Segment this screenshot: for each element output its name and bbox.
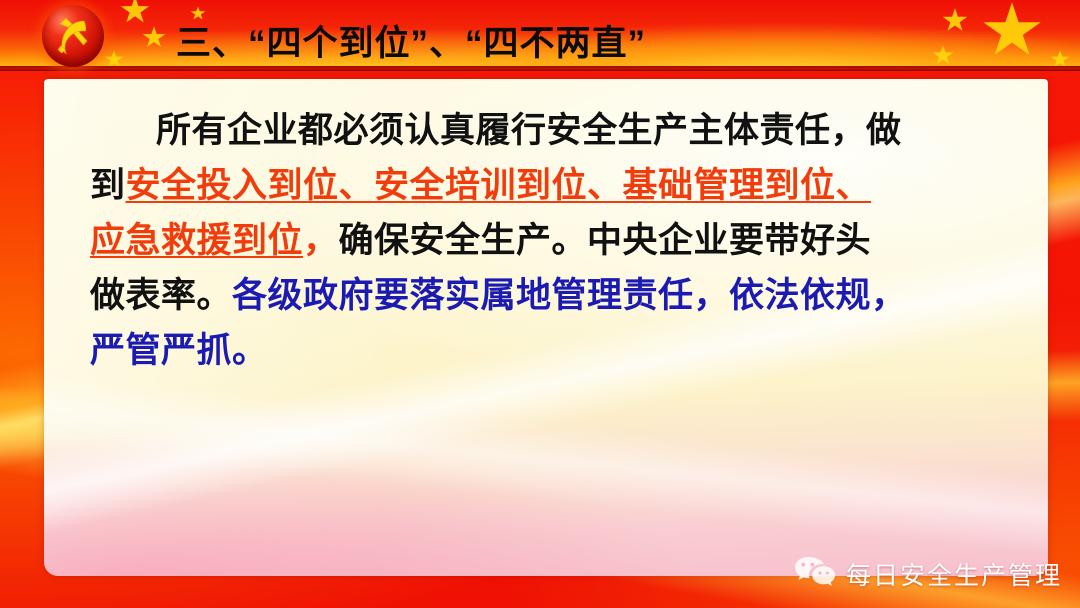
body-span-red: ， — [303, 221, 339, 260]
body-span-black: 所有企业都必须认真履行安全生产主体责任，做 — [156, 111, 902, 150]
five-pointed-star-icon — [982, 2, 1042, 60]
body-span-red-underline: 安全投入到位、安全培训到位、基础管理到位、 — [126, 166, 872, 205]
body-span-blue: 各级政府要落实属地管理责任，依法依规， — [232, 276, 907, 315]
body-line: 所有企业都必须认真履行安全生产主体责任，做 — [90, 103, 1010, 158]
body-line: 到安全投入到位、安全培训到位、基础管理到位、 — [90, 158, 1010, 213]
body-span-blue: 严管严抓。 — [90, 331, 268, 370]
body-span-black: 做表率。 — [90, 276, 232, 315]
body-span-black: 到 — [90, 166, 126, 205]
cpc-hammer-sickle-emblem-icon — [42, 5, 104, 67]
watermark-label: 每日安全生产管理 — [846, 556, 1062, 592]
body-paragraph: 所有企业都必须认真履行安全生产主体责任，做到安全投入到位、安全培训到位、基础管理… — [90, 103, 1010, 378]
page-title: 三、“四个到位”、“四不两直” — [176, 20, 976, 68]
five-pointed-star-icon — [120, 0, 150, 25]
body-line: 做表率。各级政府要落实属地管理责任，依法依规， — [90, 268, 1010, 323]
body-line: 严管严抓。 — [90, 323, 1010, 378]
body-line: 应急救援到位，确保安全生产。中央企业要带好头 — [90, 213, 1010, 268]
watermark: 每日安全生产管理 — [788, 553, 1068, 594]
five-pointed-star-icon — [142, 26, 166, 49]
content-panel: 所有企业都必须认真履行安全生产主体责任，做到安全投入到位、安全培训到位、基础管理… — [44, 79, 1048, 576]
slide-canvas: 三、“四个到位”、“四不两直” 所有企业都必须认真履行安全生产主体责任，做到安全… — [0, 0, 1080, 608]
five-pointed-star-icon — [190, 6, 206, 21]
wechat-icon — [794, 555, 836, 592]
body-span-red-underline: 应急救援到位 — [90, 221, 303, 260]
body-span-black: 确保安全生产。中央企业要带好头 — [339, 221, 872, 260]
